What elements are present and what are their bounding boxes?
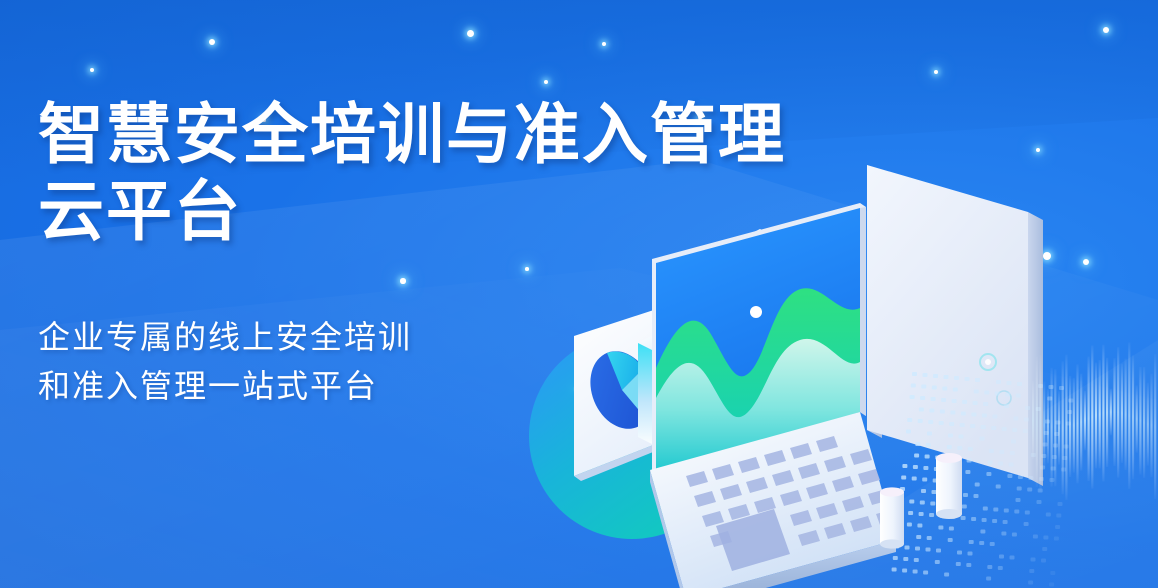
cylinder-large (936, 453, 962, 519)
page-title: 智慧安全培训与准入管理 云平台 (38, 96, 786, 249)
cylinder-small (880, 487, 904, 548)
back-panel (867, 165, 1043, 486)
waveform (1032, 343, 1156, 500)
page-subtitle: 企业专属的线上安全培训 和准入管理一站式平台 (38, 313, 786, 410)
headline-line-1: 智慧安全培训与准入管理 (38, 97, 786, 171)
headline-line-2: 云平台 (38, 173, 786, 250)
banner-text-block: 智慧安全培训与准入管理 云平台 企业专属的线上安全培训 和准入管理一站式平台 (38, 96, 786, 410)
promo-banner: 智慧安全培训与准入管理 云平台 企业专属的线上安全培训 和准入管理一站式平台 (0, 0, 1158, 588)
subtitle-line-2: 和准入管理一站式平台 (38, 362, 786, 411)
subtitle-line-1: 企业专属的线上安全培训 (38, 319, 412, 355)
